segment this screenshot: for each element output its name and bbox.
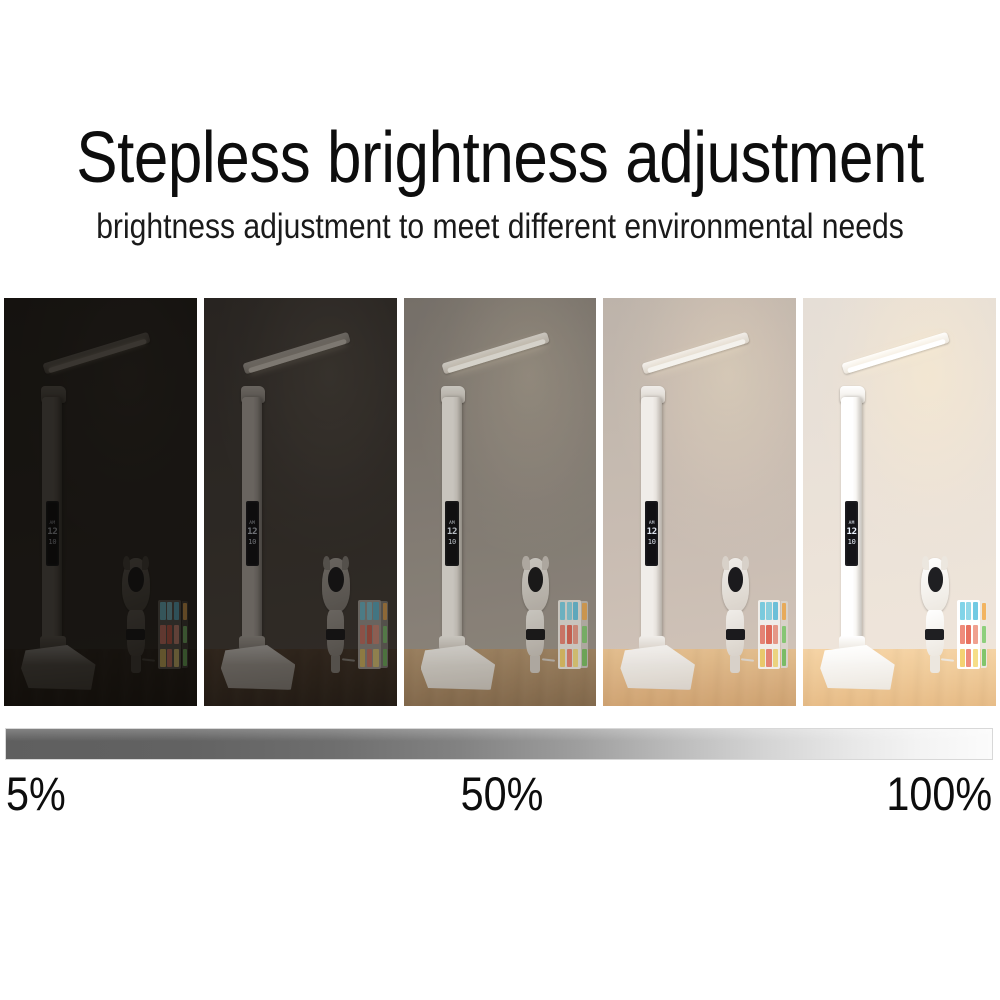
figurine-stand [730,656,740,673]
lamp-base-highlight [820,645,894,665]
rubiks-cube-tile [573,625,578,643]
figurine-head [322,558,350,612]
rubiks-cube-tile [760,625,765,643]
figurine-face [728,567,743,592]
rubiks-cube [358,600,388,669]
rubiks-cube-tile [560,649,565,667]
brightness-panel: AM1210 [603,298,796,706]
rubiks-cube-tile [383,649,387,666]
lamp-scene: AM1210 [204,298,397,706]
rubiks-cube [758,600,788,669]
lcd-meridiem-text: AM [449,521,455,526]
rubiks-cube-tile [760,649,765,667]
percent-label-row: 5% 50% 100% [0,766,1000,822]
lcd-meridiem-text: AM [49,521,55,526]
lamp-base [620,645,694,690]
rubiks-cube-side-face [781,601,788,668]
rubiks-cube-front-face [957,600,980,669]
figurine-ear-left [123,556,130,570]
percent-label-max: 100% [886,766,992,822]
rubiks-cube-tile [160,649,165,667]
rubiks-cube-tile [367,649,372,667]
rubiks-cube-tile [573,602,578,620]
figurine-ear-right [142,556,149,570]
figurine-face [328,567,343,592]
lamp-scene: AM1210 [4,298,197,706]
lcd-clock-display: AM1210 [246,501,259,565]
lcd-hour-text: 12 [647,527,657,537]
desk-lamp: AM1210 [819,347,981,706]
rubiks-cube-tile [982,649,986,666]
figurine-head [921,558,949,612]
lcd-clock-display: AM1210 [645,501,658,565]
rubiks-cube [957,600,987,669]
rubiks-cube-tile [360,625,365,643]
rubiks-cube-tile [982,626,986,643]
lcd-meridiem-text: AM [849,521,855,526]
rubiks-cube-tile [973,602,978,620]
rubiks-cube-tile [582,626,586,643]
lcd-clock-display: AM1210 [445,501,458,565]
lamp-column: AM1210 [641,397,661,645]
brightness-panel: AM1210 [404,298,597,706]
brightness-panel: AM1210 [4,298,197,706]
rubiks-cube-tile [373,602,378,620]
rubiks-cube-tile [560,625,565,643]
figurine-face [528,567,543,592]
figurine-belt [925,629,944,640]
rubiks-cube-tile [782,603,786,620]
brightness-gradient-bar[interactable] [5,728,993,760]
figurine-stand [530,656,540,673]
rubiks-cube-tile [160,625,165,643]
rubiks-cube-tile [960,625,965,643]
figurine-stand [930,656,940,673]
figurine-head [122,558,150,612]
rubiks-cube-tile [373,625,378,643]
rubiks-cube-tile [174,602,179,620]
lcd-meridiem-text: AM [249,521,255,526]
rubiks-cube-tile [560,602,565,620]
desk-lamp: AM1210 [19,347,181,706]
rubiks-cube-tile [982,603,986,620]
desk-lamp: AM1210 [619,347,781,706]
lamp-scene: AM1210 [603,298,796,706]
page-title: Stepless brightness adjustment [70,118,930,198]
rubiks-cube-tile [367,602,372,620]
rubiks-cube-tile [973,625,978,643]
rubiks-cube-tile [766,625,771,643]
desk-lamp: AM1210 [419,347,581,706]
lamp-base-highlight [221,645,295,665]
rubiks-cube-tile [183,603,187,620]
lcd-hour-text: 12 [846,527,856,537]
rubiks-cube-tile [160,602,165,620]
lamp-base [21,645,95,690]
figurine-face [928,567,943,592]
rubiks-cube-tile [183,649,187,666]
desk-lamp: AM1210 [219,347,381,706]
rubiks-cube-tile [360,602,365,620]
rubiks-cube-tile [360,649,365,667]
rubiks-cube-tile [373,649,378,667]
rubiks-cube-tile [167,625,172,643]
heading-block: Stepless brightness adjustment brightnes… [0,118,1000,248]
figurine-ear-left [922,556,929,570]
lamp-base [221,645,295,690]
lamp-base [421,645,495,690]
figurine-stand [331,656,341,673]
rubiks-cube-tile [766,649,771,667]
rubiks-cube-tile [960,602,965,620]
rubiks-cube-front-face [158,600,181,669]
lcd-hour-text: 12 [247,527,257,537]
lamp-column: AM1210 [42,397,62,645]
lcd-minute-text: 10 [848,538,856,546]
rubiks-cube-tile [966,602,971,620]
figurine-belt [726,629,745,640]
rubiks-cube-tile [174,625,179,643]
rubiks-cube-tile [773,649,778,667]
rubiks-cube-tile [760,602,765,620]
desk-figurine [519,551,552,673]
lamp-column: AM1210 [242,397,262,645]
rubiks-cube-tile [367,625,372,643]
lamp-base-highlight [21,645,95,665]
lamp-base-highlight [620,645,694,665]
rubiks-cube-front-face [758,600,781,669]
rubiks-cube-tile [582,603,586,620]
figurine-ear-right [742,556,749,570]
figurine-face [128,567,143,592]
brightness-panel-strip: AM1210AM1210AM1210AM1210AM1210 [4,298,996,706]
rubiks-cube-side-face [981,601,988,668]
rubiks-cube-tile [167,649,172,667]
figurine-stand [131,656,141,673]
rubiks-cube-side-face [381,601,388,668]
rubiks-cube-side-face [581,601,588,668]
rubiks-cube-tile [766,602,771,620]
figurine-head [522,558,550,612]
rubiks-cube-tile [567,625,572,643]
figurine-head [722,558,750,612]
rubiks-cube-tile [966,649,971,667]
rubiks-cube-tile [174,649,179,667]
rubiks-cube [158,600,188,669]
brightness-panel: AM1210 [204,298,397,706]
lcd-minute-text: 10 [48,538,56,546]
lcd-clock-display: AM1210 [46,501,59,565]
figurine-ear-right [542,556,549,570]
percent-label-mid: 50% [461,766,544,822]
rubiks-cube-tile [782,649,786,666]
percent-label-min: 5% [6,766,66,822]
lcd-meridiem-text: AM [649,521,655,526]
lamp-base [820,645,894,690]
rubiks-cube-tile [973,649,978,667]
lcd-clock-display: AM1210 [845,501,858,565]
lcd-minute-text: 10 [448,538,456,546]
desk-figurine [319,551,352,673]
rubiks-cube-tile [773,602,778,620]
rubiks-cube-tile [567,602,572,620]
lamp-scene: AM1210 [404,298,597,706]
figurine-belt [126,629,145,640]
lcd-minute-text: 10 [648,538,656,546]
lamp-column: AM1210 [841,397,861,645]
lamp-base-highlight [421,645,495,665]
lcd-minute-text: 10 [248,538,256,546]
lcd-hour-text: 12 [47,527,57,537]
figurine-ear-left [323,556,330,570]
rubiks-cube-tile [582,649,586,666]
rubiks-cube-tile [567,649,572,667]
desk-figurine [919,551,952,673]
figurine-ear-left [722,556,729,570]
figurine-ear-left [522,556,529,570]
gradient-bar-sheen [6,729,992,741]
figurine-ear-right [941,556,948,570]
figurine-ear-right [342,556,349,570]
rubiks-cube-tile [383,603,387,620]
lcd-hour-text: 12 [447,527,457,537]
rubiks-cube [558,600,588,669]
rubiks-cube-tile [167,602,172,620]
desk-figurine [719,551,752,673]
desk-figurine [120,551,153,673]
rubiks-cube-tile [773,625,778,643]
page-subtitle: brightness adjustment to meet different … [70,206,930,248]
brightness-panel: AM1210 [803,298,996,706]
rubiks-cube-tile [966,625,971,643]
lamp-column: AM1210 [442,397,462,645]
figurine-belt [326,629,345,640]
rubiks-cube-tile [183,626,187,643]
rubiks-cube-front-face [358,600,381,669]
rubiks-cube-side-face [182,601,189,668]
rubiks-cube-tile [782,626,786,643]
rubiks-cube-tile [960,649,965,667]
rubiks-cube-front-face [558,600,581,669]
lamp-scene: AM1210 [803,298,996,706]
figurine-belt [526,629,545,640]
rubiks-cube-tile [573,649,578,667]
rubiks-cube-tile [383,626,387,643]
